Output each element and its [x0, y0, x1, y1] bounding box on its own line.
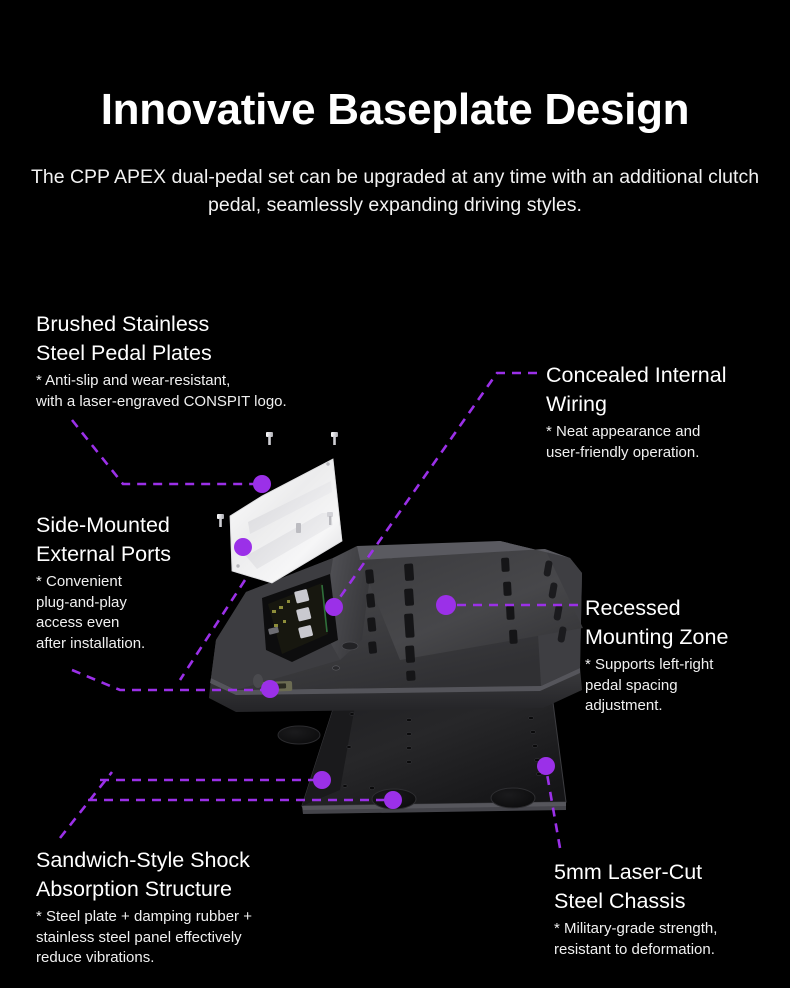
- leader-concealed-wiring: [336, 373, 537, 603]
- dot-recessed-zone: [436, 595, 456, 615]
- dot-concealed-wiring: [325, 598, 343, 616]
- callout-body: * Anti-slip and wear-resistant, with a l…: [36, 371, 366, 412]
- dot-sandwich-a: [313, 771, 331, 789]
- dot-laser-chassis: [537, 757, 555, 775]
- callout-body: * Neat appearance and user-friendly oper…: [546, 422, 790, 463]
- callout-heading: Recessed Mounting Zone: [585, 594, 790, 651]
- leader-brushed-stainless: [72, 420, 263, 484]
- callout-heading: Concealed Internal Wiring: [546, 361, 790, 418]
- dot-brushed-stainless: [253, 475, 271, 493]
- callout-body: * Supports left-right pedal spacing adju…: [585, 655, 790, 717]
- callout-side-mounted-external-ports: Side-Mounted External Ports * Convenient…: [36, 511, 266, 654]
- callout-heading: Side-Mounted External Ports: [36, 511, 266, 568]
- callout-recessed-mounting-zone: Recessed Mounting Zone * Supports left-r…: [585, 594, 790, 717]
- callout-body: * Convenient plug-and-play access even a…: [36, 572, 266, 654]
- callout-heading: Sandwich-Style Shock Absorption Structur…: [36, 846, 376, 903]
- callout-heading: Brushed Stainless Steel Pedal Plates: [36, 310, 366, 367]
- callout-heading: 5mm Laser-Cut Steel Chassis: [554, 858, 790, 915]
- callout-brushed-stainless-steel-pedal-plates: Brushed Stainless Steel Pedal Plates * A…: [36, 310, 366, 412]
- leader-laser-chassis: [546, 768, 560, 848]
- leader-lines: [0, 0, 790, 988]
- leader-sandwich-stem: [60, 772, 112, 838]
- leader-endpoint-dots: [234, 475, 555, 809]
- callout-concealed-internal-wiring: Concealed Internal Wiring * Neat appeara…: [546, 361, 790, 463]
- callout-sandwich-style-shock-absorption-structure: Sandwich-Style Shock Absorption Structur…: [36, 846, 376, 969]
- callout-5mm-laser-cut-steel-chassis: 5mm Laser-Cut Steel Chassis * Military-g…: [554, 858, 790, 960]
- dot-side-ports: [261, 680, 279, 698]
- leader-side-ports: [72, 670, 271, 690]
- callout-body: * Steel plate + damping rubber + stainle…: [36, 907, 376, 969]
- callout-body: * Military-grade strength, resistant to …: [554, 919, 790, 960]
- infographic-page: Innovative Baseplate Design The CPP APEX…: [0, 0, 790, 988]
- dot-sandwich-b: [384, 791, 402, 809]
